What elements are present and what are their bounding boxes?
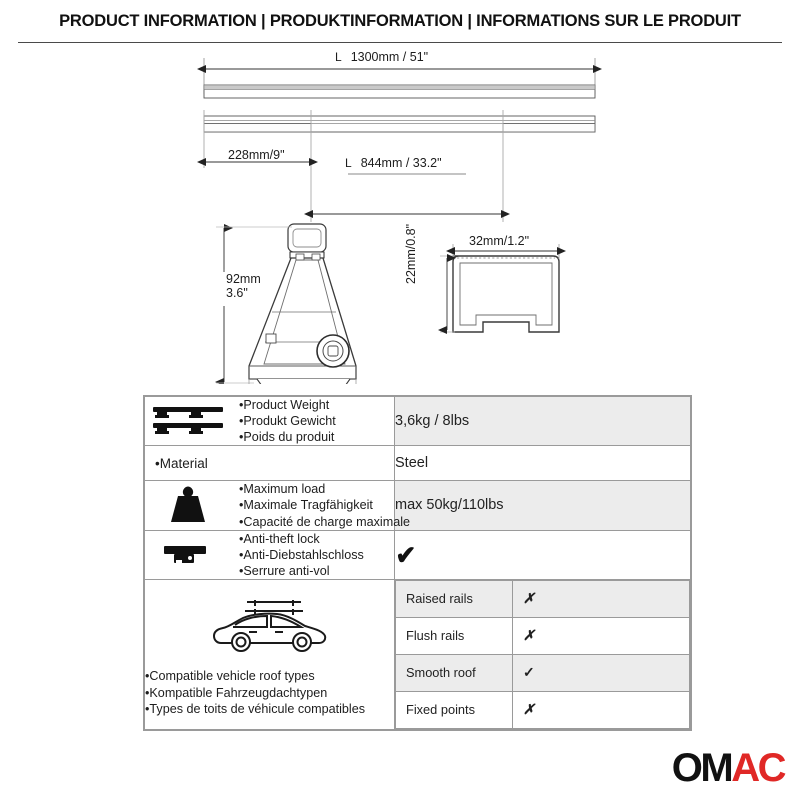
row-label-anti-theft-lock: •Anti-theft lock •Anti-Diebstahlschloss … — [145, 530, 395, 579]
specification-table: •Product Weight •Produkt Gewicht •Poids … — [143, 395, 692, 731]
row-value-maximum-load: max 50kg/110lbs — [395, 481, 691, 530]
label-line-en: •Product Weight — [239, 397, 336, 413]
label-line-en: •Compatible vehicle roof types — [145, 668, 394, 684]
compat-row-fixed-points: Fixed points ✗ — [396, 691, 690, 728]
cross-icon: ✗ — [523, 701, 535, 717]
row-label-material: •Material — [145, 446, 395, 481]
check-icon: ✓ — [523, 664, 535, 680]
compat-mark-smooth-roof: ✓ — [513, 654, 690, 691]
logo-text-ac: AC — [731, 748, 784, 788]
cross-icon: ✗ — [523, 627, 535, 643]
compat-mark-flush-rails: ✗ — [513, 617, 690, 654]
row-value-product-weight: 3,6kg / 8lbs — [395, 397, 691, 446]
compat-name-smooth-roof: Smooth roof — [396, 654, 513, 691]
row-value-anti-theft-lock: ✔ — [395, 530, 691, 579]
crossbar-icon — [145, 404, 231, 438]
logo-text-om: OM — [672, 748, 731, 788]
weight-icon — [145, 484, 231, 526]
table-row-maximum-load: •Maximum load •Maximale Tragfähigkeit •C… — [145, 481, 691, 530]
compat-name-flush-rails: Flush rails — [396, 617, 513, 654]
compat-row-flush-rails: Flush rails ✗ — [396, 617, 690, 654]
label-line-en: •Maximum load — [239, 481, 410, 497]
label-line-fr: •Types de toits de véhicule compatibles — [145, 701, 394, 717]
label-line-de: •Anti-Diebstahlschloss — [239, 547, 364, 563]
page-header: PRODUCT INFORMATION | PRODUKTINFORMATION… — [0, 0, 800, 42]
table-row-anti-theft-lock: •Anti-theft lock •Anti-Diebstahlschloss … — [145, 530, 691, 579]
row-label-product-weight: •Product Weight •Produkt Gewicht •Poids … — [145, 397, 395, 446]
compat-mark-raised-rails: ✗ — [513, 580, 690, 617]
label-line-de: •Maximale Tragfähigkeit — [239, 497, 410, 513]
row-label-maximum-load: •Maximum load •Maximale Tragfähigkeit •C… — [145, 481, 395, 530]
row-value-material: Steel — [395, 446, 691, 481]
compat-row-smooth-roof: Smooth roof ✓ — [396, 654, 690, 691]
label-lines-compatibility: •Compatible vehicle roof types •Kompatib… — [145, 668, 394, 717]
drawing-svg — [0, 44, 800, 384]
label-line-fr: •Capacité de charge maximale — [239, 514, 410, 530]
cross-icon: ✗ — [523, 590, 535, 606]
lock-icon — [145, 540, 231, 570]
table-row-product-weight: •Product Weight •Produkt Gewicht •Poids … — [145, 397, 691, 446]
label-line-en: •Anti-theft lock — [239, 531, 364, 547]
checkmark-icon: ✔ — [396, 542, 417, 568]
technical-drawing-area: L1300mm / 51" 228mm/9" L844mm / 33.2" 92… — [0, 44, 800, 384]
table-row-compatibility: •Compatible vehicle roof types •Kompatib… — [145, 579, 691, 729]
label-line-fr: •Serrure anti-vol — [239, 563, 364, 579]
header-divider — [18, 42, 782, 43]
compat-row-raised-rails: Raised rails ✗ — [396, 580, 690, 617]
label-lines-product-weight: •Product Weight •Produkt Gewicht •Poids … — [239, 397, 336, 445]
compat-name-raised-rails: Raised rails — [396, 580, 513, 617]
brand-logo: OMAC — [672, 748, 784, 788]
compatibility-matrix-cell: Raised rails ✗ Flush rails ✗ Smooth roof… — [395, 579, 691, 729]
car-with-rack-icon — [145, 595, 394, 662]
label-lines-anti-theft-lock: •Anti-theft lock •Anti-Diebstahlschloss … — [239, 531, 364, 579]
label-lines-maximum-load: •Maximum load •Maximale Tragfähigkeit •C… — [239, 481, 410, 529]
compat-name-fixed-points: Fixed points — [396, 691, 513, 728]
page-title: PRODUCT INFORMATION | PRODUKTINFORMATION… — [59, 12, 741, 31]
label-line-de: •Kompatible Fahrzeugdachtypen — [145, 685, 394, 701]
compatibility-matrix: Raised rails ✗ Flush rails ✗ Smooth roof… — [395, 580, 690, 729]
table-row-material: •Material Steel — [145, 446, 691, 481]
label-line-de: •Produkt Gewicht — [239, 413, 336, 429]
row-label-compatibility: •Compatible vehicle roof types •Kompatib… — [145, 579, 395, 729]
compat-mark-fixed-points: ✗ — [513, 691, 690, 728]
label-line-fr: •Poids du produit — [239, 429, 336, 445]
label-line-material: •Material — [145, 456, 394, 471]
